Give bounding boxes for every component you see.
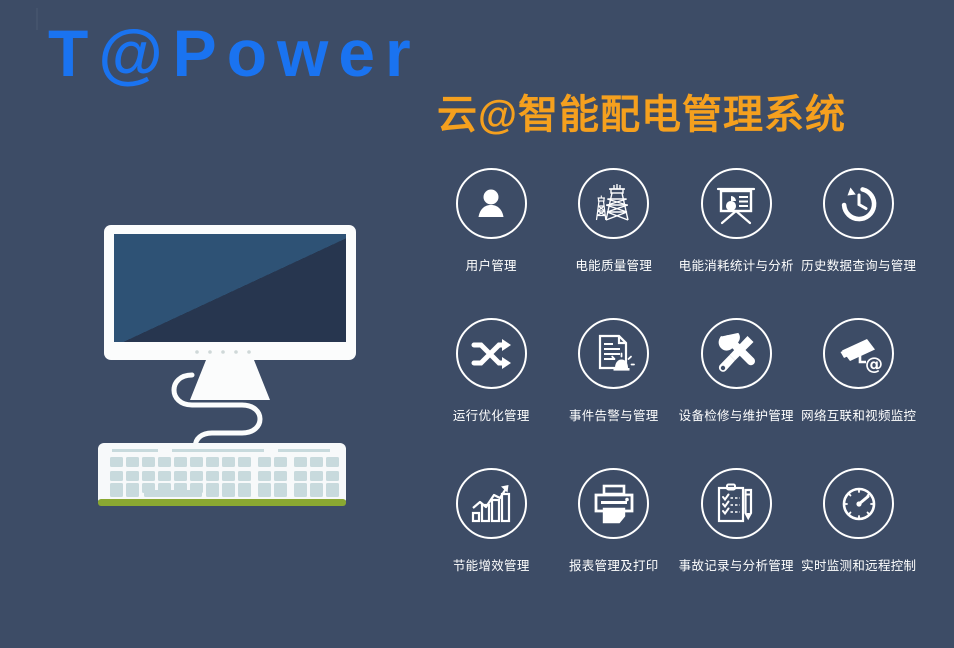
- poster-canvas: T@Power 云@智能配电管理系统: [0, 0, 954, 648]
- document-alarm-icon: [578, 318, 649, 389]
- power-tower-icon: [578, 168, 649, 239]
- feature-item-realtime-monitoring[interactable]: 实时监测和远程控制: [798, 468, 921, 618]
- desktop-computer-illustration: [90, 215, 380, 535]
- feature-label: 历史数据查询与管理: [801, 255, 916, 274]
- feature-item-user-management[interactable]: 用户管理: [430, 168, 553, 318]
- feature-label: 运行优化管理: [453, 405, 530, 424]
- user-icon: [456, 168, 527, 239]
- feature-label: 事件告警与管理: [569, 405, 659, 424]
- feature-label: 实时监测和远程控制: [801, 555, 916, 574]
- growth-bar-chart-icon: [456, 468, 527, 539]
- feature-item-history-data[interactable]: 历史数据查询与管理: [798, 168, 921, 318]
- page-title: T@Power: [48, 20, 421, 86]
- feature-item-consumption-analysis[interactable]: 电能消耗统计与分析: [675, 168, 798, 318]
- clipboard-checklist-icon: [701, 468, 772, 539]
- presentation-chart-icon: [701, 168, 772, 239]
- feature-label: 网络互联和视频监控: [801, 405, 916, 424]
- feature-item-event-alarm[interactable]: 事件告警与管理: [553, 318, 676, 468]
- printer-icon: [578, 468, 649, 539]
- wrench-screwdriver-icon: [701, 318, 772, 389]
- feature-item-operation-optimization[interactable]: 运行优化管理: [430, 318, 553, 468]
- edge-artifact: [36, 8, 38, 30]
- feature-item-maintenance[interactable]: 设备检修与维护管理: [675, 318, 798, 468]
- feature-grid: 用户管理 电能质量管理: [430, 168, 920, 618]
- feature-label: 设备检修与维护管理: [679, 405, 794, 424]
- feature-item-power-quality[interactable]: 电能质量管理: [553, 168, 676, 318]
- svg-text:@: @: [865, 354, 882, 374]
- history-clock-icon: [823, 168, 894, 239]
- feature-item-report-print[interactable]: 报表管理及打印: [553, 468, 676, 618]
- feature-label: 电能消耗统计与分析: [679, 255, 794, 274]
- feature-label: 节能增效管理: [453, 555, 530, 574]
- gauge-icon: [823, 468, 894, 539]
- feature-label: 用户管理: [466, 255, 517, 274]
- security-camera-at-icon: @: [823, 318, 894, 389]
- feature-label: 报表管理及打印: [569, 555, 659, 574]
- shuffle-arrows-icon: [456, 318, 527, 389]
- feature-label: 事故记录与分析管理: [679, 555, 794, 574]
- feature-item-energy-saving[interactable]: 节能增效管理: [430, 468, 553, 618]
- page-subtitle: 云@智能配电管理系统: [437, 95, 846, 135]
- feature-item-incident-record[interactable]: 事故记录与分析管理: [675, 468, 798, 618]
- feature-item-network-video[interactable]: @ 网络互联和视频监控: [798, 318, 921, 468]
- feature-label: 电能质量管理: [575, 255, 652, 274]
